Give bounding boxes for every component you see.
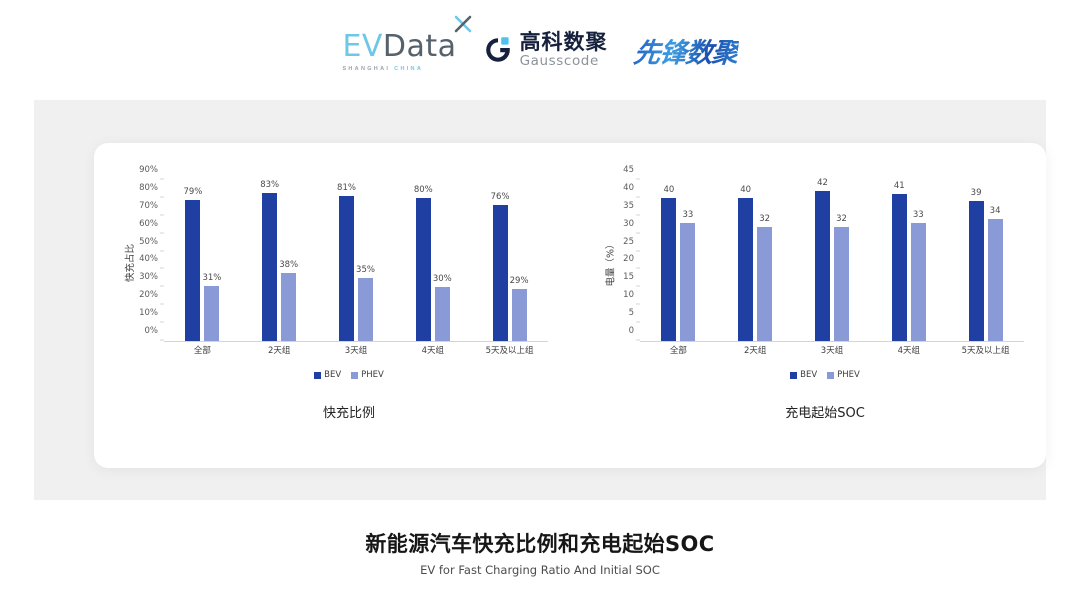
bar-value-label: 33 <box>682 210 693 220</box>
legend-label-bev: BEV <box>800 370 817 380</box>
xianfeng-logo: 先锋数聚 <box>632 31 740 70</box>
x-axis-tick: 4天组 <box>870 344 947 364</box>
bar-bev[interactable]: 41 <box>892 194 907 341</box>
bar-value-label: 41 <box>894 181 905 191</box>
bar-value-label: 29% <box>510 276 529 286</box>
y-axis-tick-mark <box>636 268 640 269</box>
y-axis-tick: 45 <box>623 165 634 175</box>
legend-left: BEV PHEV <box>94 370 570 380</box>
bar-bev[interactable]: 76% <box>493 205 508 341</box>
legend-label-phev: PHEV <box>361 370 384 380</box>
legend-swatch-phev-icon <box>827 372 834 379</box>
legend-label-bev: BEV <box>324 370 341 380</box>
bar-value-label: 40 <box>740 185 751 195</box>
legend-item-phev-left: PHEV <box>351 370 384 380</box>
plot-area-right: 电量（%） 40334032423241333934 0510152025303… <box>588 158 1024 368</box>
grid-area-left: 79%31%83%38%81%35%80%30%76%29% 0%10%20%3… <box>164 180 548 342</box>
bar-phev[interactable]: 34 <box>988 219 1003 341</box>
bar-bev[interactable]: 81% <box>339 196 354 341</box>
bar-value-label: 38% <box>279 260 298 270</box>
y-axis-tick-mark <box>636 322 640 323</box>
bar-bev[interactable]: 42 <box>815 191 830 341</box>
y-axis-tick: 0% <box>145 326 159 336</box>
g-circle-icon <box>483 35 513 65</box>
y-axis-tick: 90% <box>139 165 158 175</box>
y-axis-tick-mark <box>160 232 164 233</box>
legend-swatch-bev-icon <box>314 372 321 379</box>
y-axis-tick: 10% <box>139 308 158 318</box>
evdata-data-text: Data <box>383 29 457 64</box>
legend-item-phev-right: PHEV <box>827 370 860 380</box>
x-axis-tick: 3天组 <box>318 344 395 364</box>
y-axis-tick-mark <box>160 286 164 287</box>
y-axis-tick: 5 <box>629 308 634 318</box>
chart-fast-charging-ratio: 快充占比 79%31%83%38%81%35%80%30%76%29% 0%10… <box>94 150 570 455</box>
bar-group: 4033 <box>640 180 717 341</box>
y-axis-tick: 20 <box>623 254 634 264</box>
y-axis-tick: 60% <box>139 219 158 229</box>
y-axis-tick-mark <box>636 340 640 341</box>
footer: 新能源汽车快充比例和充电起始SOC EV for Fast Charging R… <box>0 528 1080 577</box>
bar-value-label: 31% <box>202 273 221 283</box>
y-axis-tick-mark <box>160 250 164 251</box>
y-axis-tick-mark <box>636 250 640 251</box>
y-axis-tick: 35 <box>623 201 634 211</box>
bar-group-container-right: 40334032423241333934 <box>640 180 1024 341</box>
y-axis-tick-mark <box>636 179 640 180</box>
y-axis-tick: 40 <box>623 183 634 193</box>
bar-phev[interactable]: 29% <box>512 289 527 341</box>
charts-row: 快充占比 79%31%83%38%81%35%80%30%76%29% 0%10… <box>94 150 1046 455</box>
bar-phev[interactable]: 32 <box>757 227 772 341</box>
bar-phev[interactable]: 35% <box>358 278 373 341</box>
bar-value-label: 33 <box>913 210 924 220</box>
x-axis-tick: 4天组 <box>394 344 471 364</box>
bar-value-label: 32 <box>836 214 847 224</box>
gausscode-cn-text: 高科数聚 <box>520 32 608 53</box>
x-axis-left: 全部2天组3天组4天组5天及以上组 <box>164 344 548 364</box>
y-axis-tick: 40% <box>139 254 158 264</box>
bar-group: 79%31% <box>164 180 241 341</box>
y-axis-tick: 30 <box>623 219 634 229</box>
bar-group: 83%38% <box>241 180 318 341</box>
y-axis-tick-mark <box>636 232 640 233</box>
legend-right: BEV PHEV <box>570 370 1046 380</box>
y-axis-tick: 70% <box>139 201 158 211</box>
bar-group: 4232 <box>794 180 871 341</box>
x-axis-tick: 2天组 <box>241 344 318 364</box>
chart-initial-soc: 电量（%） 40334032423241333934 0510152025303… <box>570 150 1046 455</box>
y-axis-tick-mark <box>636 286 640 287</box>
bar-value-label: 81% <box>337 183 356 193</box>
bar-group: 4133 <box>870 180 947 341</box>
evdata-ev-text: EV <box>342 29 382 64</box>
page-subtitle: EV for Fast Charging Ratio And Initial S… <box>0 563 1080 577</box>
y-axis-tick-mark <box>636 214 640 215</box>
bar-value-label: 30% <box>433 274 452 284</box>
y-axis-tick-mark <box>160 179 164 180</box>
evdata-tagline: SHANGHAI CHINA <box>342 66 423 72</box>
chart-caption-left: 快充比例 <box>94 402 570 421</box>
y-axis-tick: 30% <box>139 272 158 282</box>
y-axis-tick-mark <box>160 196 164 197</box>
bar-value-label: 39 <box>971 188 982 198</box>
y-axis-tick-mark <box>160 214 164 215</box>
bar-bev[interactable]: 40 <box>738 198 753 341</box>
bar-group: 4032 <box>717 180 794 341</box>
x-axis-tick: 5天及以上组 <box>471 344 548 364</box>
y-axis-tick-mark <box>160 322 164 323</box>
y-axis-tick: 50% <box>139 237 158 247</box>
legend-label-phev: PHEV <box>837 370 860 380</box>
y-axis-tick: 10 <box>623 290 634 300</box>
bar-bev[interactable]: 80% <box>416 198 431 341</box>
bar-phev[interactable]: 33 <box>911 223 926 341</box>
x-axis-tick: 全部 <box>164 344 241 364</box>
bar-bev[interactable]: 83% <box>262 193 277 341</box>
y-axis-label-left: 快充占比 <box>122 244 136 282</box>
legend-item-bev-right: BEV <box>790 370 817 380</box>
x-axis-tick: 2天组 <box>717 344 794 364</box>
bar-phev[interactable]: 33 <box>680 223 695 341</box>
x-axis-tick: 3天组 <box>794 344 871 364</box>
bar-group-container-left: 79%31%83%38%81%35%80%30%76%29% <box>164 180 548 341</box>
bar-value-label: 42 <box>817 178 828 188</box>
x-mark-icon <box>454 15 472 33</box>
evdata-tagline-country: CHINA <box>394 66 423 72</box>
plot-area-left: 快充占比 79%31%83%38%81%35%80%30%76%29% 0%10… <box>112 158 548 368</box>
y-axis-tick-mark <box>636 196 640 197</box>
page-title: 新能源汽车快充比例和充电起始SOC <box>0 528 1080 558</box>
bar-group: 81%35% <box>318 180 395 341</box>
y-axis-tick-mark <box>160 268 164 269</box>
evdata-logo: EV Data SHANGHAI CHINA <box>342 29 456 72</box>
y-axis-tick: 0 <box>629 326 634 336</box>
bar-phev[interactable]: 30% <box>435 287 450 341</box>
slide-page: EV Data SHANGHAI CHINA 高科数聚 <box>0 0 1080 608</box>
x-axis-tick: 5天及以上组 <box>947 344 1024 364</box>
bar-value-label: 40 <box>663 185 674 195</box>
bar-bev[interactable]: 79% <box>185 200 200 341</box>
evdata-wordmark: EV Data <box>342 29 456 64</box>
bar-value-label: 79% <box>183 187 202 197</box>
bar-value-label: 32 <box>759 214 770 224</box>
y-axis-tick-mark <box>160 340 164 341</box>
legend-swatch-phev-icon <box>351 372 358 379</box>
bar-bev[interactable]: 39 <box>969 201 984 341</box>
bar-value-label: 76% <box>491 192 510 202</box>
y-axis-tick: 25 <box>623 237 634 247</box>
evdata-tagline-city: SHANGHAI <box>342 66 390 72</box>
bar-value-label: 34 <box>990 206 1001 216</box>
gausscode-en-text: Gausscode <box>520 55 608 69</box>
logo-bar: EV Data SHANGHAI CHINA 高科数聚 <box>0 24 1080 76</box>
x-axis-tick: 全部 <box>640 344 717 364</box>
bar-group: 3934 <box>947 180 1024 341</box>
bar-phev[interactable]: 38% <box>281 273 296 341</box>
y-axis-tick: 15 <box>623 272 634 282</box>
y-axis-tick-mark <box>160 304 164 305</box>
grid-area-right: 40334032423241333934 051015202530354045 <box>640 180 1024 342</box>
bar-value-label: 83% <box>260 180 279 190</box>
y-axis-tick: 20% <box>139 290 158 300</box>
gausscode-wordmark: 高科数聚 Gausscode <box>520 32 608 69</box>
legend-item-bev-left: BEV <box>314 370 341 380</box>
bar-phev[interactable]: 32 <box>834 227 849 341</box>
bar-value-label: 35% <box>356 265 375 275</box>
bar-phev[interactable]: 31% <box>204 286 219 341</box>
chart-caption-right: 充电起始SOC <box>570 402 1046 421</box>
bar-group: 80%30% <box>394 180 471 341</box>
bar-bev[interactable]: 40 <box>661 198 676 341</box>
bar-value-label: 80% <box>414 185 433 195</box>
bar-group: 76%29% <box>471 180 548 341</box>
x-axis-right: 全部2天组3天组4天组5天及以上组 <box>640 344 1024 364</box>
y-axis-tick: 80% <box>139 183 158 193</box>
gausscode-logo: 高科数聚 Gausscode <box>483 32 608 69</box>
y-axis-label-right: 电量（%） <box>603 239 617 286</box>
legend-swatch-bev-icon <box>790 372 797 379</box>
y-axis-tick-mark <box>636 304 640 305</box>
